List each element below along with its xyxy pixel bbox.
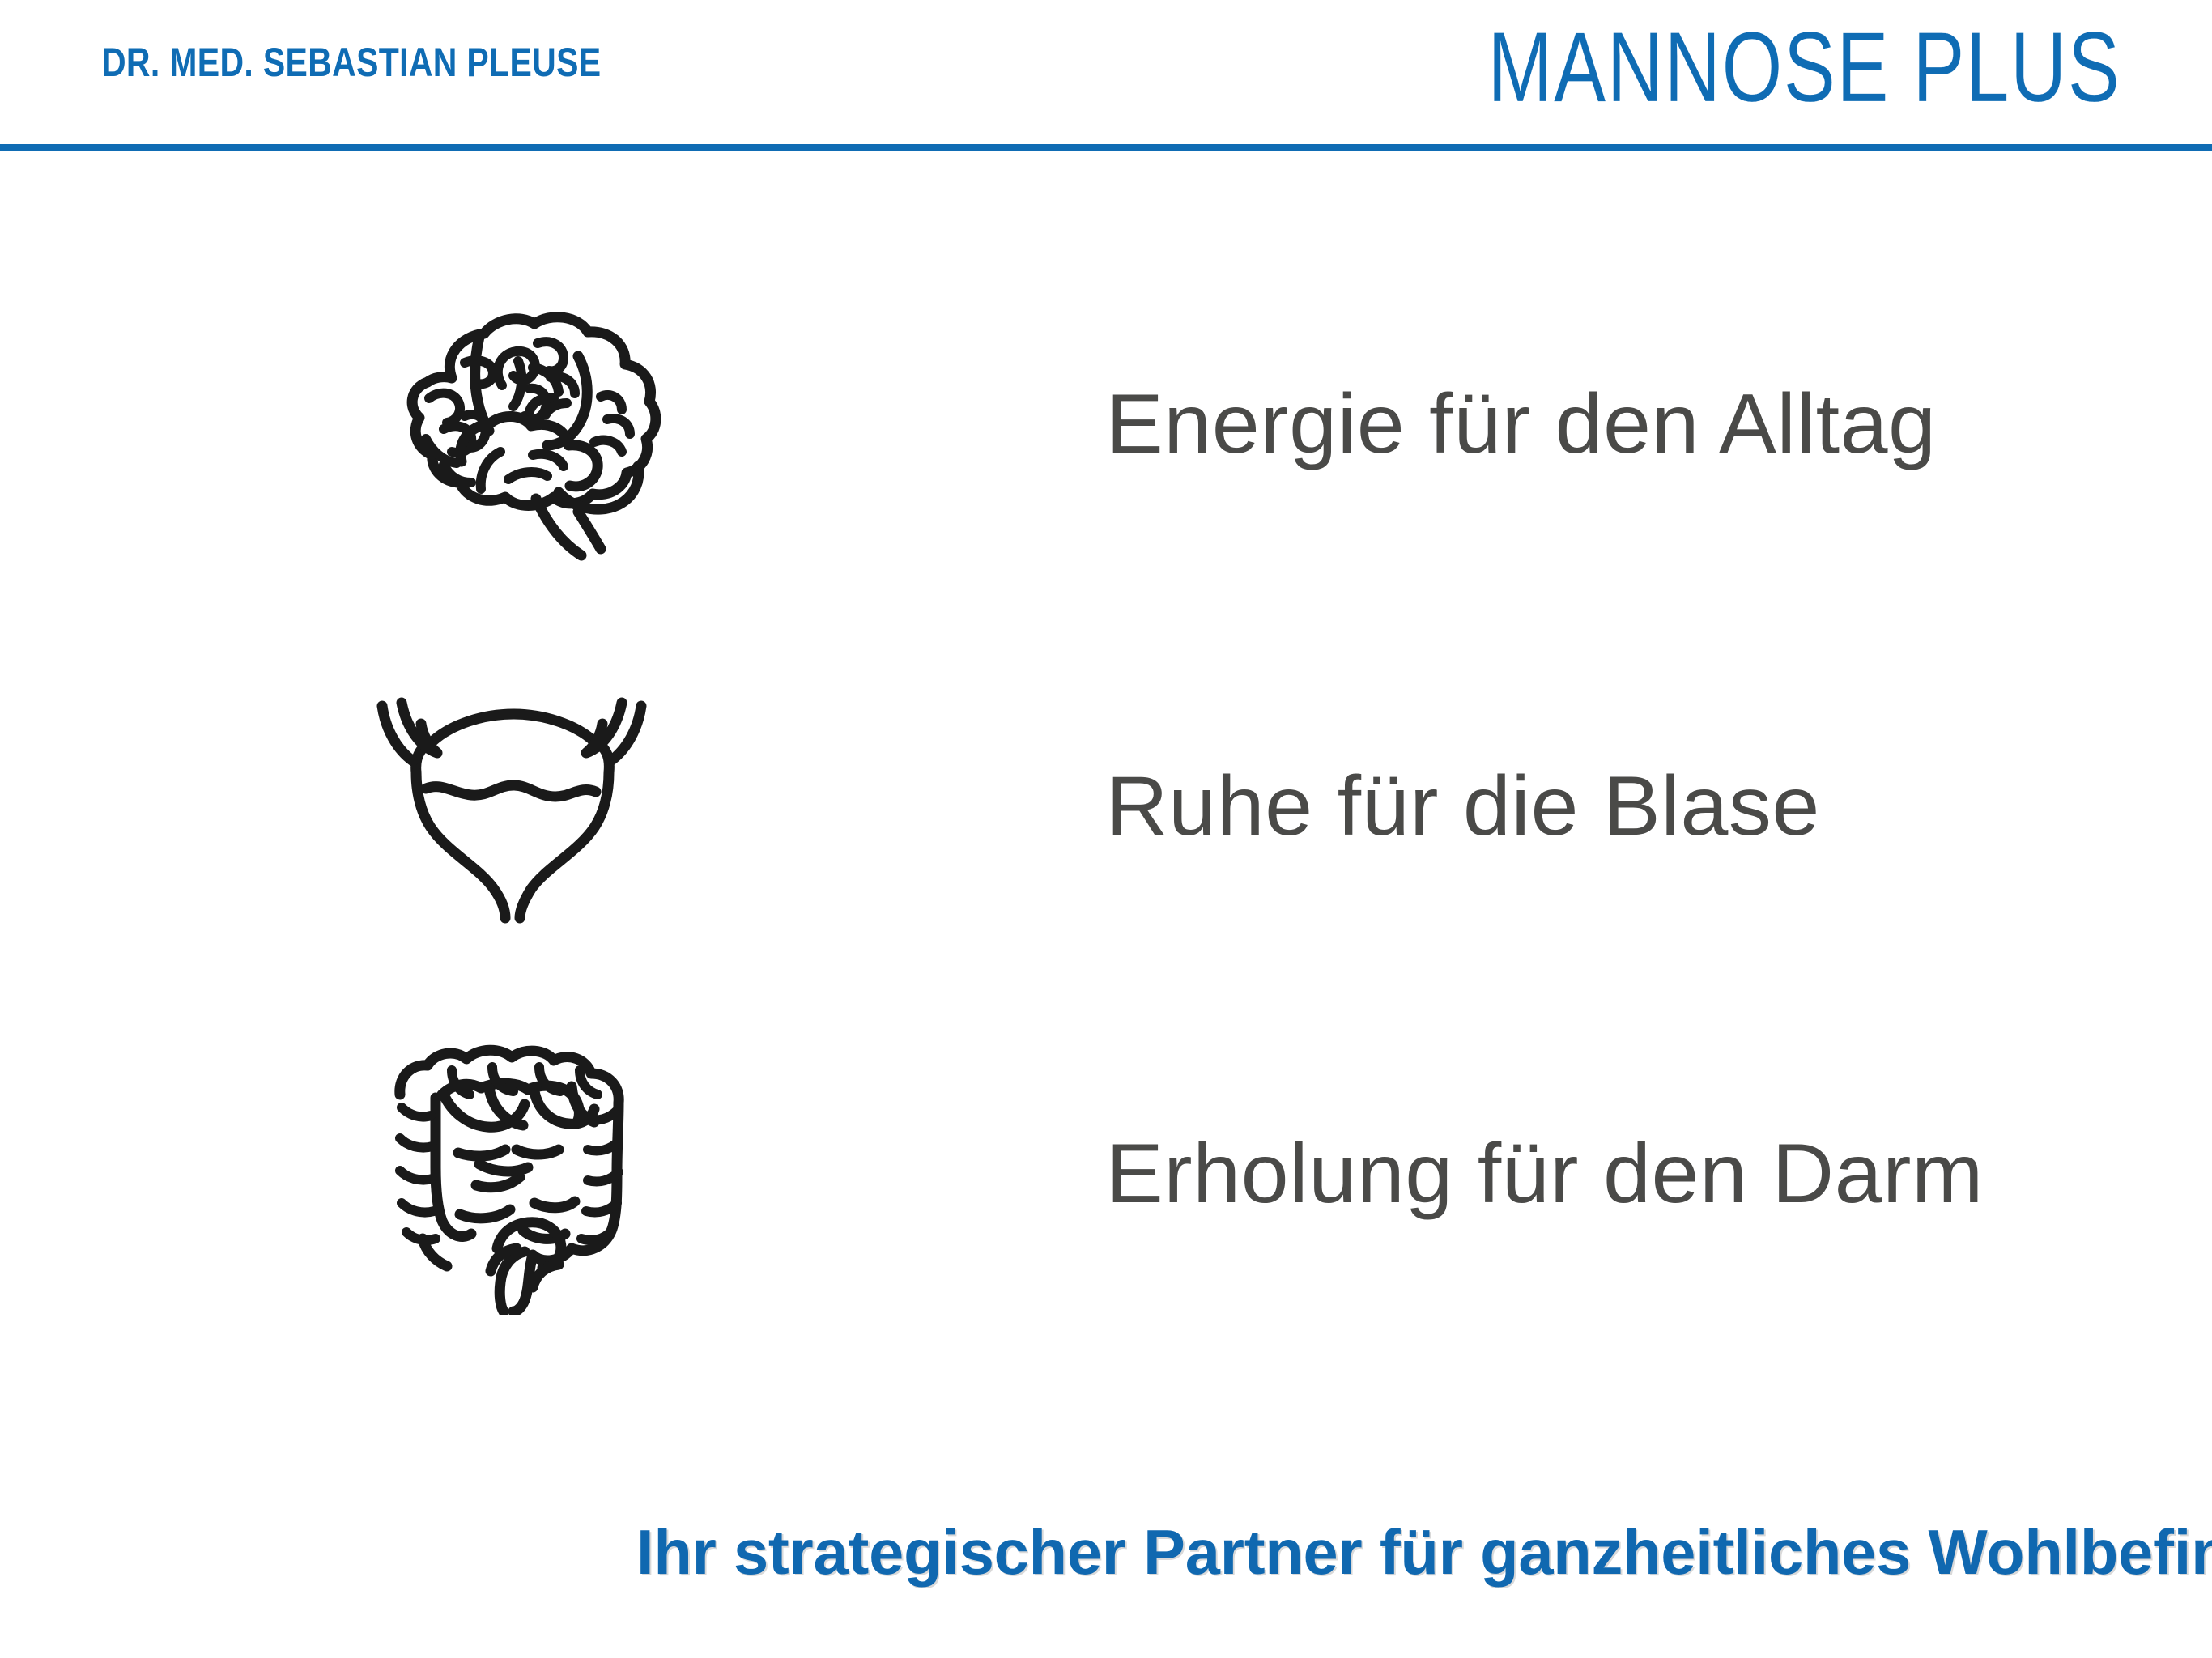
practice-name: DR. MED. SEBASTIAN PLEUSE	[102, 42, 601, 83]
intestine-icon	[374, 1035, 646, 1315]
feature-row-intestine: Erholung für den Darm	[0, 1028, 2212, 1352]
brand-logo-mannose-plus: MANNOSE PLUS	[1488, 18, 2121, 117]
header-divider-rule	[0, 144, 2212, 151]
brain-icon	[366, 308, 662, 565]
slide-canvas: DR. MED. SEBASTIAN PLEUSE MANNOSE PLUS	[0, 0, 2212, 1658]
feature-row-brain: Energie für den Alltag	[0, 291, 2212, 615]
slide-header: DR. MED. SEBASTIAN PLEUSE MANNOSE PLUS	[0, 0, 2212, 151]
feature-row-bladder: Ruhe für die Blase	[0, 664, 2212, 988]
feature-label-ruhe: Ruhe für die Blase	[1106, 764, 1820, 848]
feature-label-energie: Energie für den Alltag	[1106, 382, 1937, 466]
footer-tagline: Ihr strategischer Partner für ganzheitli…	[636, 1520, 2212, 1584]
bladder-icon	[363, 685, 661, 928]
feature-label-erholung: Erholung für den Darm	[1106, 1132, 1984, 1216]
